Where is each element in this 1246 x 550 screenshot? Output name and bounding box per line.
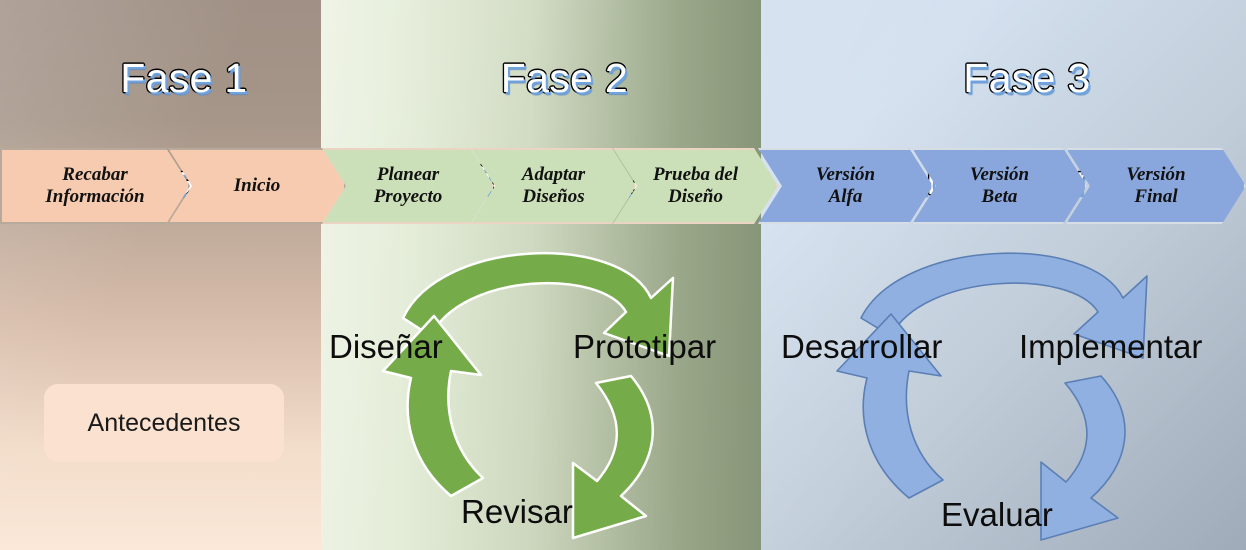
step-label: Inicio [228, 175, 286, 197]
step-chevron-recabar-informacion[interactable]: Recabar Información [0, 148, 190, 224]
step-chevron-planear-proyecto[interactable]: Planear Proyecto [322, 148, 494, 224]
antecedentes-box[interactable]: Antecedentes [44, 384, 284, 462]
step-label: Adaptar Diseños [516, 164, 591, 208]
step-chevron-prueba-del-diseno[interactable]: Prueba del Diseño [613, 148, 778, 224]
arrow-implementar-to-evaluar [1041, 376, 1125, 540]
diagram-canvas: Fase 1 Preparación Fase 2 Diseño iterati… [0, 0, 1246, 550]
step-label: Versión Beta [964, 164, 1035, 208]
process-step-band: Recabar Información Inicio Planear Proye… [0, 148, 1246, 224]
phase-3-number: Fase 3 [963, 55, 1090, 101]
cycle-node-revisar[interactable]: Revisar [461, 493, 573, 531]
step-label: Recabar Información [39, 164, 150, 208]
phase-1-number: Fase 1 [120, 55, 247, 101]
step-chevron-version-final[interactable]: Versión Final [1066, 148, 1246, 224]
cycle-node-disenar[interactable]: Diseñar [329, 328, 443, 366]
step-chevron-adaptar-disenos[interactable]: Adaptar Diseños [471, 148, 636, 224]
cycle-node-desarrollar[interactable]: Desarrollar [781, 328, 942, 366]
cycle-node-prototipar[interactable]: Prototipar [573, 328, 716, 366]
step-label: Prueba del Diseño [647, 164, 744, 208]
phase-2-cycle: Diseñar Prototipar Revisar [321, 228, 761, 550]
antecedentes-label: Antecedentes [88, 409, 241, 438]
phase-3-cycle: Desarrollar Implementar Evaluar [761, 228, 1246, 550]
step-chevron-version-alfa[interactable]: Versión Alfa [758, 148, 933, 224]
step-chevron-inicio[interactable]: Inicio [168, 148, 346, 224]
phase-2-number: Fase 2 [501, 55, 628, 101]
cycle-node-implementar[interactable]: Implementar [1019, 328, 1202, 366]
step-label: Planear Proyecto [368, 164, 449, 208]
cycle-node-evaluar[interactable]: Evaluar [941, 496, 1053, 534]
arrow-prototipar-to-revisar [573, 376, 653, 538]
step-label: Versión Final [1120, 164, 1191, 208]
step-label: Versión Alfa [810, 164, 881, 208]
step-chevron-version-beta[interactable]: Versión Beta [912, 148, 1087, 224]
